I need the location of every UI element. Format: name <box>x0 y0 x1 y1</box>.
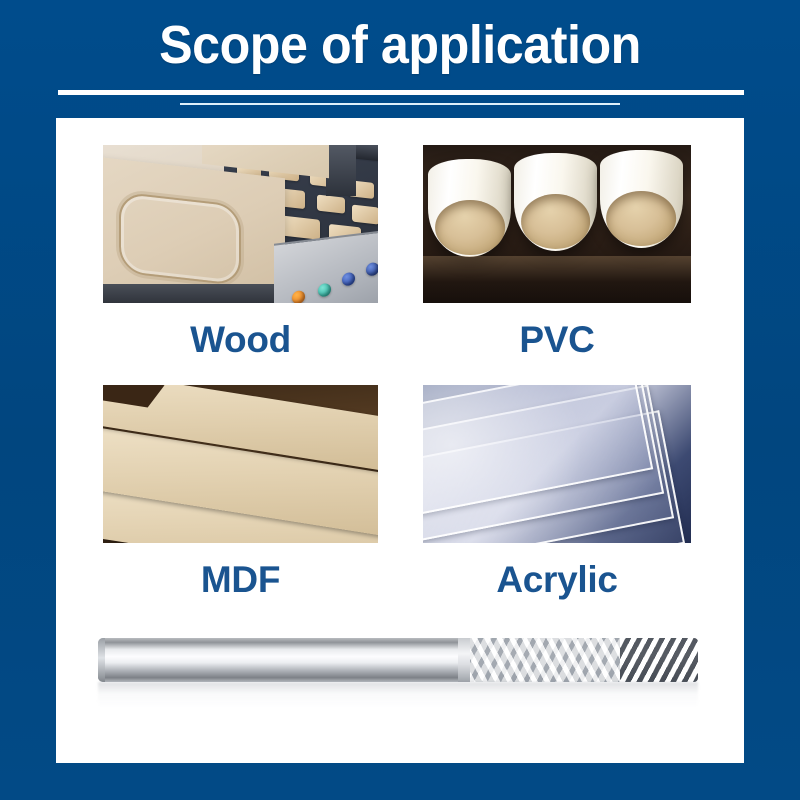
wood-routed-groove <box>118 191 241 286</box>
carbide-spiral-router-bit-image <box>98 638 698 682</box>
router-bit-tip <box>620 638 698 682</box>
wood-control-panel <box>274 230 379 303</box>
materials-grid: Wood PVC <box>56 118 744 600</box>
material-label-mdf: MDF <box>103 556 378 604</box>
material-label-pvc: PVC <box>423 316 691 364</box>
page-root: Scope of application <box>0 0 800 800</box>
wood-panel-door <box>103 156 285 303</box>
material-tile-pvc[interactable]: PVC <box>423 145 691 364</box>
header-divider-wide <box>58 90 744 95</box>
material-tile-acrylic[interactable]: Acrylic <box>423 385 691 604</box>
white-pvc-pipes-image <box>423 145 691 303</box>
header-divider-narrow <box>180 103 620 105</box>
header: Scope of application <box>0 0 800 118</box>
pvc-pipe <box>514 153 597 251</box>
pvc-pipe <box>428 159 511 257</box>
stacked-clear-acrylic-sheets-image <box>423 385 691 543</box>
content-card: Wood PVC <box>56 118 744 763</box>
wood-machine-post <box>326 145 356 196</box>
pvc-pipe <box>600 150 683 248</box>
stacked-mdf-boards-image <box>103 385 378 543</box>
page-title: Scope of application <box>28 14 772 76</box>
material-tile-wood[interactable]: Wood <box>103 145 378 364</box>
router-bit-reflection <box>98 682 698 708</box>
material-label-wood: Wood <box>103 316 378 364</box>
cnc-router-machining-wood-panels-image <box>103 145 378 303</box>
material-label-acrylic: Acrylic <box>423 556 691 604</box>
router-bit-shank <box>98 638 470 682</box>
product-image-area <box>56 600 744 763</box>
router-bit-flutes <box>470 638 626 682</box>
acrylic-highlight <box>423 385 584 543</box>
pvc-surface-reflection <box>423 256 691 303</box>
material-tile-mdf[interactable]: MDF <box>103 385 378 604</box>
